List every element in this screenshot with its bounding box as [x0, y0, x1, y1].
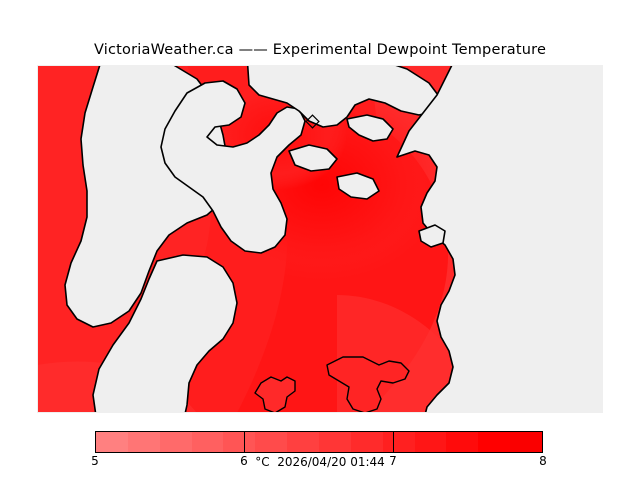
colorbar-tick-7 — [393, 431, 394, 453]
colorbar-step-7 — [319, 432, 351, 452]
map-canvas — [37, 65, 603, 413]
weather-map-page: VictoriaWeather.ca —— Experimental Dewpo… — [0, 0, 640, 480]
colorbar-step-4 — [223, 432, 255, 452]
page-title: VictoriaWeather.ca —— Experimental Dewpo… — [0, 42, 640, 58]
colorbar-step-6 — [287, 432, 319, 452]
colorbar-caption: °C 2026/04/20 01:44 — [0, 455, 640, 469]
colorbar-step-10 — [415, 432, 447, 452]
colorbar-step-0 — [96, 432, 128, 452]
colorbar-step-8 — [351, 432, 383, 452]
colorbar-step-13 — [510, 432, 542, 452]
map-plot-area[interactable] — [37, 65, 603, 413]
colorbar-step-11 — [446, 432, 478, 452]
colorbar-tick-6 — [244, 431, 245, 453]
colorbar-gradient — [95, 431, 543, 453]
colorbar[interactable]: 5 6 7 8 — [95, 431, 543, 453]
colorbar-step-3 — [192, 432, 224, 452]
colorbar-step-1 — [128, 432, 160, 452]
colorbar-step-2 — [160, 432, 192, 452]
colorbar-step-12 — [478, 432, 510, 452]
colorbar-step-5 — [255, 432, 287, 452]
map-layers — [37, 65, 603, 413]
colorbar-step-9 — [383, 432, 415, 452]
